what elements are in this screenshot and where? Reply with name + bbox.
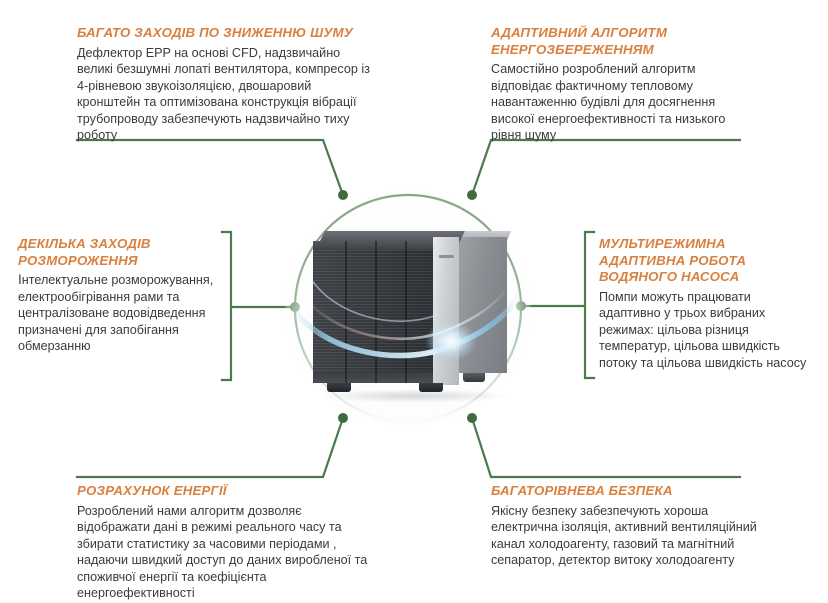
feature-body-water-pump: Помпи можуть працювати адаптивно у трьох… — [599, 289, 811, 372]
feature-heading-safety: БАГАТОРІВНЕВА БЕЗПЕКА — [491, 483, 771, 500]
airflow-swoosh-icon — [281, 235, 535, 385]
feature-block-energy-algorithm: АДАПТИВНИЙ АЛГОРИТМ ЕНЕРГОЗБЕРЕЖЕННЯМ Са… — [491, 25, 746, 144]
feature-heading-energy-calculation: РОЗРАХУНОК ЕНЕРГІЇ — [77, 483, 377, 500]
feature-body-energy-algorithm: Самостійно розроблений алгоритм відповід… — [491, 61, 746, 144]
feature-heading-noise: БАГАТО ЗАХОДІВ ПО ЗНИЖЕННЮ ШУМУ — [77, 25, 377, 42]
connector-line-safety — [472, 418, 740, 477]
feature-block-energy-calculation: РОЗРАХУНОК ЕНЕРГІЇ Розроблений нами алго… — [77, 483, 377, 602]
infographic-canvas: БАГАТО ЗАХОДІВ ПО ЗНИЖЕННЮ ШУМУ Дефлекто… — [0, 0, 828, 603]
feature-body-noise: Дефлектор EPP на основі CFD, надзвичайно… — [77, 45, 377, 145]
feature-body-defrost: Інтелектуальне розморожування, електрооб… — [18, 272, 233, 355]
connector-line-calc — [77, 418, 343, 477]
feature-body-energy-calculation: Розроблений нами алгоритм дозволяє відоб… — [77, 503, 377, 603]
product-illustration — [295, 195, 521, 421]
feature-body-safety: Якісну безпеку забезпечують хороша елект… — [491, 503, 771, 569]
connector-line-energy — [472, 140, 740, 195]
feature-block-safety: БАГАТОРІВНЕВА БЕЗПЕКА Якісну безпеку заб… — [491, 483, 771, 569]
feature-block-defrost: ДЕКІЛЬКА ЗАХОДІВ РОЗМОРОЖЕННЯ Інтелектуа… — [18, 236, 233, 355]
feature-block-noise: БАГАТО ЗАХОДІВ ПО ЗНИЖЕННЮ ШУМУ Дефлекто… — [77, 25, 377, 144]
feature-heading-water-pump: МУЛЬТИРЕЖИМНА АДАПТИВНА РОБОТА ВОДЯНОГО … — [599, 236, 811, 286]
feature-heading-energy-algorithm: АДАПТИВНИЙ АЛГОРИТМ ЕНЕРГОЗБЕРЕЖЕННЯМ — [491, 25, 746, 58]
connector-line-noise — [77, 140, 343, 195]
feature-heading-defrost: ДЕКІЛЬКА ЗАХОДІВ РОЗМОРОЖЕННЯ — [18, 236, 233, 269]
defrost-body-rest: нтелектуальне розморожування, електрообі… — [18, 273, 213, 353]
feature-block-water-pump: МУЛЬТИРЕЖИМНА АДАПТИВНА РОБОТА ВОДЯНОГО … — [599, 236, 811, 371]
